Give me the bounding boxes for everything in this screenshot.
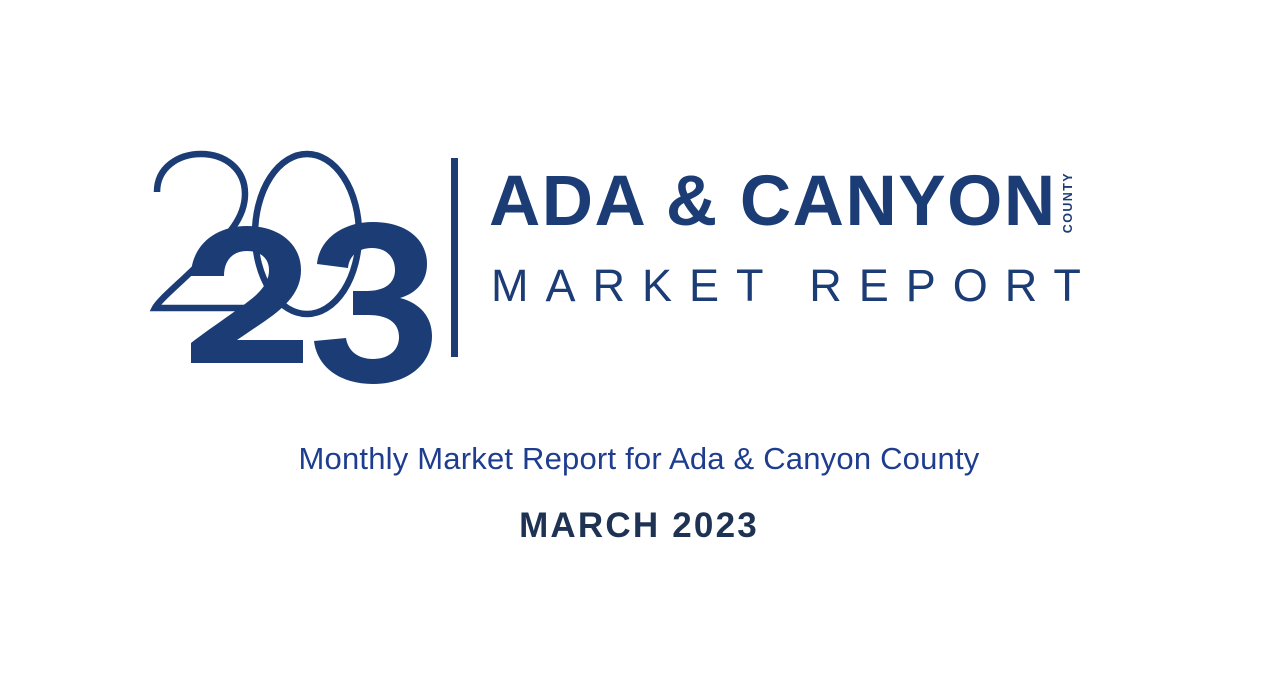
year-solid-23 (191, 222, 432, 384)
logo-subtitle: MARKET REPORT (491, 263, 1098, 308)
logo-wordmark: ADA & CANYON COUNTY MARKET REPORT (489, 148, 1135, 363)
caption-block: Monthly Market Report for Ada & Canyon C… (0, 440, 1278, 547)
logo-lockup: ADA & CANYON COUNTY MARKET REPORT (0, 148, 1278, 370)
cover-page: ADA & CANYON COUNTY MARKET REPORT Monthl… (0, 0, 1278, 674)
logo-title: ADA & CANYON (489, 166, 1057, 237)
logo-county-superscript: COUNTY (1062, 172, 1075, 233)
year-mark-icon (149, 148, 439, 363)
year-mark-2023 (149, 148, 439, 363)
report-description: Monthly Market Report for Ada & Canyon C… (0, 440, 1278, 477)
report-date: MARCH 2023 (0, 505, 1278, 547)
wordmark-main-row: ADA & CANYON COUNTY (489, 166, 1074, 237)
logo-divider-bar (451, 158, 458, 357)
logo-inner: ADA & CANYON COUNTY MARKET REPORT (143, 148, 1135, 370)
